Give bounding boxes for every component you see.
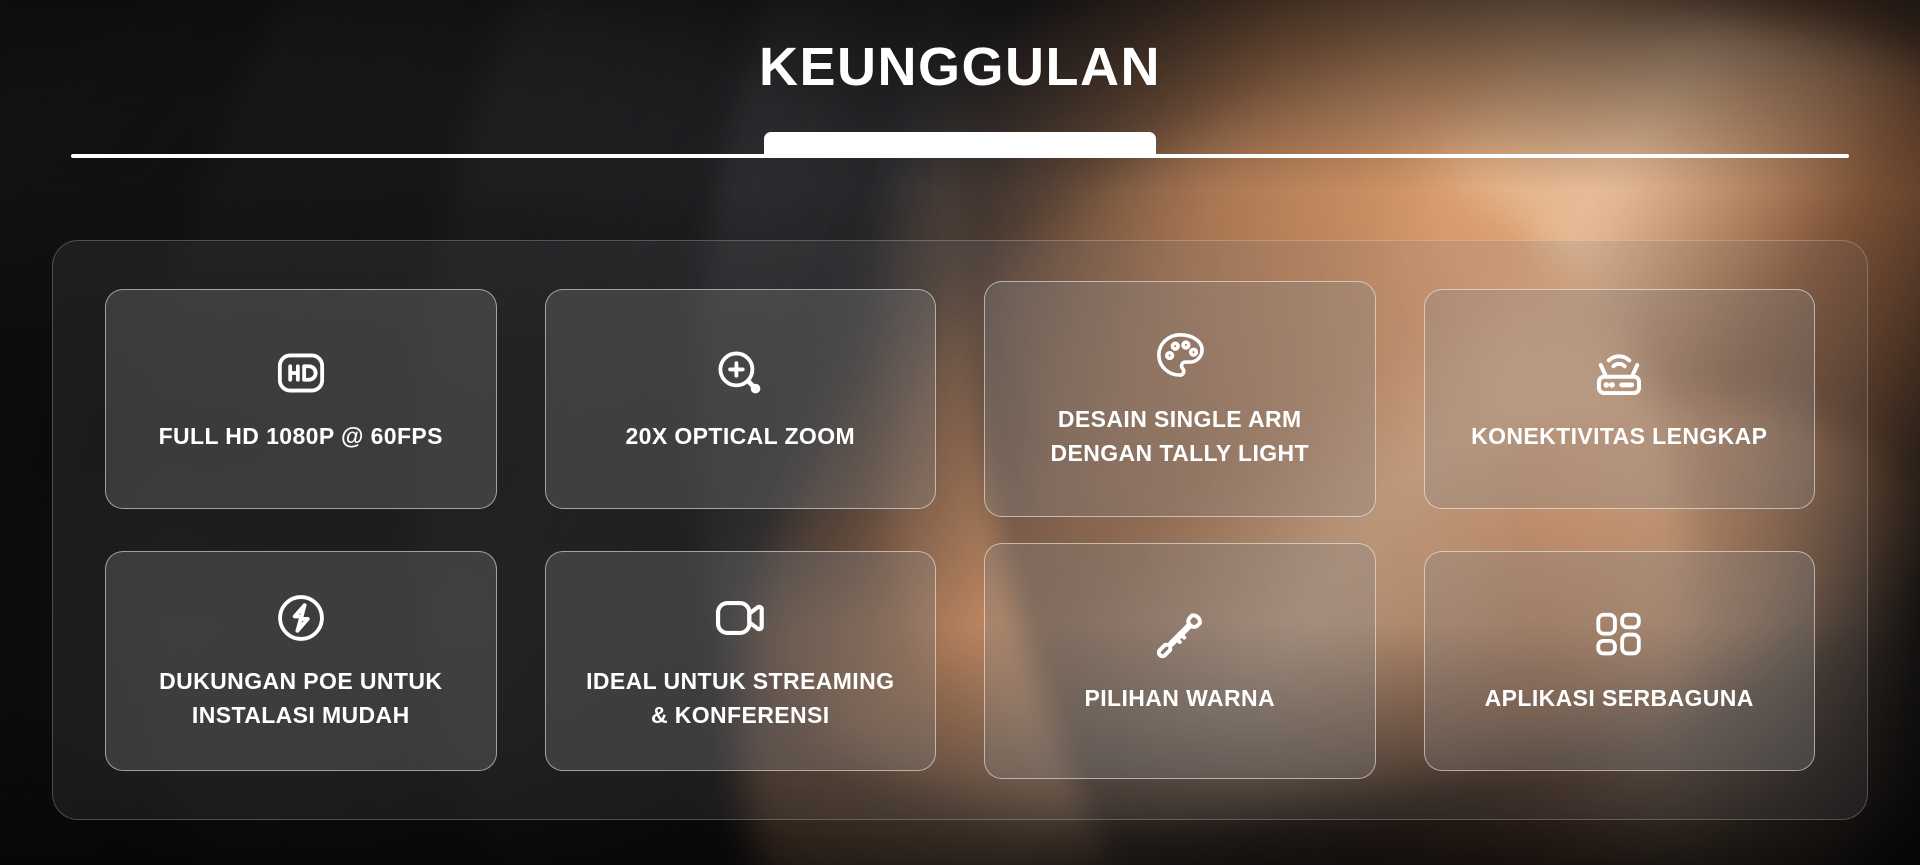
- feature-card-optical-zoom[interactable]: 20X OPTICAL ZOOM: [545, 289, 937, 509]
- feature-card-streaming[interactable]: IDEAL UNTUK STREAMING & KONFERENSI: [545, 551, 937, 771]
- page-title: KEUNGGULAN: [0, 40, 1920, 94]
- feature-card-label: IDEAL UNTUK STREAMING & KONFERENSI: [586, 664, 894, 732]
- features-grid: FULL HD 1080P @ 60FPS 20X OPTICAL ZOOM: [105, 289, 1815, 771]
- wifi-router-icon: [1591, 345, 1647, 401]
- feature-card-full-hd[interactable]: FULL HD 1080P @ 60FPS: [105, 289, 497, 509]
- feature-card-label: DESAIN SINGLE ARM DENGAN TALLY LIGHT: [1050, 402, 1309, 470]
- feature-card-konektivitas[interactable]: KONEKTIVITAS LENGKAP: [1424, 289, 1816, 509]
- feature-card-label: APLIKASI SERBAGUNA: [1485, 681, 1754, 715]
- feature-card-aplikasi[interactable]: APLIKASI SERBAGUNA: [1424, 551, 1816, 771]
- feature-card-poe[interactable]: DUKUNGAN POE UNTUK INSTALASI MUDAH: [105, 551, 497, 771]
- feature-card-label: FULL HD 1080P @ 60FPS: [159, 419, 443, 453]
- app-grid-icon: [1591, 607, 1647, 663]
- feature-card-single-arm-tally[interactable]: DESAIN SINGLE ARM DENGAN TALLY LIGHT: [984, 281, 1376, 517]
- color-palette-icon: [1152, 328, 1208, 384]
- lightning-bolt-circle-icon: [273, 590, 329, 646]
- header-divider-rule: [71, 154, 1849, 158]
- video-camera-icon: [712, 590, 768, 646]
- hd-badge-icon: [273, 345, 329, 401]
- feature-card-label: DUKUNGAN POE UNTUK INSTALASI MUDAH: [159, 664, 442, 732]
- slide-header: KEUNGGULAN: [0, 0, 1920, 180]
- feature-card-label: KONEKTIVITAS LENGKAP: [1471, 419, 1767, 453]
- features-panel: FULL HD 1080P @ 60FPS 20X OPTICAL ZOOM: [52, 240, 1868, 820]
- eyedropper-icon: [1152, 607, 1208, 663]
- feature-card-label: PILIHAN WARNA: [1085, 681, 1275, 715]
- feature-card-label: 20X OPTICAL ZOOM: [625, 419, 855, 453]
- zoom-in-icon: [712, 345, 768, 401]
- feature-card-pilihan-warna[interactable]: PILIHAN WARNA: [984, 543, 1376, 779]
